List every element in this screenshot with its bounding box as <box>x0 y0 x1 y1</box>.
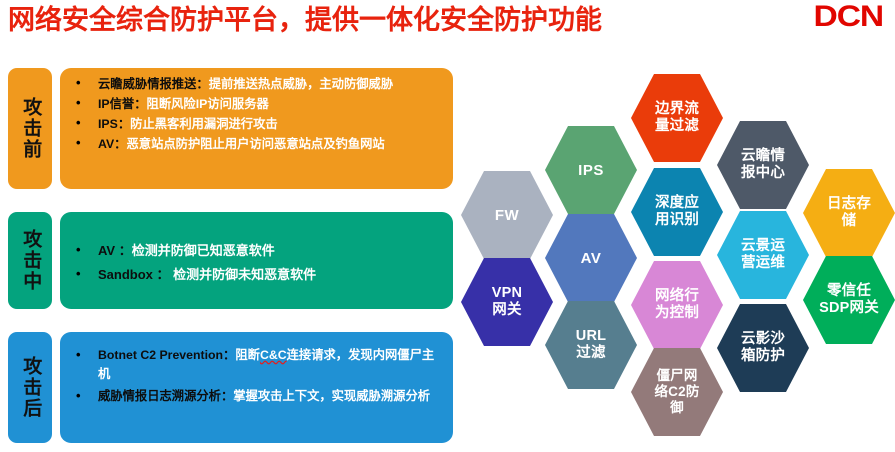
stage-tab-label: 攻击后 <box>19 356 41 419</box>
spellcheck-underline: C&C <box>260 348 287 362</box>
hex-cell-label: 云瞻情 报中心 <box>727 148 799 182</box>
hex-cell[interactable]: 日志存 储 <box>803 169 895 257</box>
hex-cell-label: URL 过滤 <box>562 328 620 362</box>
bullet-item: Sandbox ： 检测并防御未知恶意软件 <box>68 264 443 285</box>
bullet-item: AV ：检测并防御已知恶意软件 <box>68 240 443 261</box>
stage-body-post: Botnet C2 Prevention：阻断C&C连接请求，发现内网僵尸主机威… <box>60 332 453 443</box>
hex-cell[interactable]: 云影沙 箱防护 <box>717 304 809 392</box>
capability-hex-diagram: FWIPS边界流 量过滤云瞻情 报中心日志存 储AV深度应 用识别云景运 营运维… <box>455 58 895 452</box>
stage-bullet-list: Botnet C2 Prevention：阻断C&C连接请求，发现内网僵尸主机威… <box>68 346 443 406</box>
stage-tab-post: 攻击后 <box>8 332 52 443</box>
bullet-key: IP信誉： <box>98 97 147 111</box>
stage-panel-pre-attack: 攻击前云瞻威胁情报推送：提前推送热点威胁，主动防御威胁IP信誉：阻断风险IP访问… <box>8 68 455 189</box>
hex-cell-label: 云影沙 箱防护 <box>727 331 799 365</box>
hex-cell[interactable]: 零信任 SDP网关 <box>803 256 895 344</box>
bullet-item: 威胁情报日志溯源分析：掌握攻击上下文，实现威胁溯源分析 <box>68 387 443 406</box>
hex-cell[interactable]: VPN 网关 <box>461 258 553 346</box>
bullet-key: 云瞻威胁情报推送： <box>98 77 209 91</box>
hex-cell-label: AV <box>567 250 616 267</box>
hex-cell-label: 僵尸网 络C2防 御 <box>645 368 708 416</box>
stage-panel-post-attack: 攻击后Botnet C2 Prevention：阻断C&C连接请求，发现内网僵尸… <box>8 332 455 443</box>
hex-cell[interactable]: 僵尸网 络C2防 御 <box>631 348 723 436</box>
stage-body-pre: 云瞻威胁情报推送：提前推送热点威胁，主动防御威胁IP信誉：阻断风险IP访问服务器… <box>60 68 453 189</box>
stage-tab-mid: 攻击中 <box>8 212 52 309</box>
bullet-value: 恶意站点防护阻止用户访问恶意站点及钓鱼网站 <box>126 137 384 151</box>
stage-bullet-list: AV ：检测并防御已知恶意软件Sandbox ： 检测并防御未知恶意软件 <box>68 240 443 285</box>
stage-bullet-list: 云瞻威胁情报推送：提前推送热点威胁，主动防御威胁IP信誉：阻断风险IP访问服务器… <box>68 75 443 153</box>
hex-cell-label: VPN 网关 <box>478 285 536 319</box>
bullet-item: IP信誉：阻断风险IP访问服务器 <box>68 95 443 113</box>
hex-cell-label: IPS <box>564 162 618 179</box>
hex-cell[interactable]: IPS <box>545 126 637 214</box>
hex-cell[interactable]: 深度应 用识别 <box>631 168 723 256</box>
bullet-value: 阻断风险IP访问服务器 <box>147 97 269 111</box>
bullet-key: AV ： <box>98 243 132 258</box>
hex-cell[interactable]: 云瞻情 报中心 <box>717 121 809 209</box>
hex-cell[interactable]: 云景运 营运维 <box>717 211 809 299</box>
stage-tab-label: 攻击前 <box>19 97 41 160</box>
hex-cell[interactable]: FW <box>461 171 553 259</box>
bullet-value: 掌握攻击上下文，实现威胁溯源分析 <box>233 389 430 403</box>
bullet-value: 提前推送热点威胁，主动防御威胁 <box>209 77 393 91</box>
bullet-item: AV：恶意站点防护阻止用户访问恶意站点及钓鱼网站 <box>68 135 443 153</box>
stage-tab-pre: 攻击前 <box>8 68 52 189</box>
bullet-value: 检测并防御未知恶意软件 <box>170 267 317 282</box>
bullet-key: 威胁情报日志溯源分析： <box>98 389 233 403</box>
bullet-key: Sandbox ： <box>98 267 170 282</box>
hex-cell-label: FW <box>481 207 533 224</box>
bullet-item: Botnet C2 Prevention：阻断C&C连接请求，发现内网僵尸主机 <box>68 346 443 384</box>
stage-panel-during-attack: 攻击中AV ：检测并防御已知恶意软件Sandbox ： 检测并防御未知恶意软件 <box>8 212 455 309</box>
bullet-value: 检测并防御已知恶意软件 <box>132 243 275 258</box>
hex-cell-label: 零信任 SDP网关 <box>805 283 893 317</box>
hex-cell[interactable]: URL 过滤 <box>545 301 637 389</box>
bullet-item: 云瞻威胁情报推送：提前推送热点威胁，主动防御威胁 <box>68 75 443 93</box>
hex-cell-label: 边界流 量过滤 <box>641 101 713 135</box>
slide-canvas: 网络安全综合防护平台，提供一体化安全防护功能 DCN 攻击前云瞻威胁情报推送：提… <box>0 0 895 452</box>
stage-body-mid: AV ：检测并防御已知恶意软件Sandbox ： 检测并防御未知恶意软件 <box>60 212 453 309</box>
bullet-key: AV： <box>98 137 126 151</box>
hex-cell-label: 日志存 储 <box>813 196 885 230</box>
hex-cell[interactable]: AV <box>545 214 637 302</box>
hex-cell-label: 深度应 用识别 <box>641 195 713 229</box>
hex-cell[interactable]: 网络行 为控制 <box>631 261 723 349</box>
bullet-key: Botnet C2 Prevention： <box>98 348 235 362</box>
bullet-item: IPS：防止黑客利用漏洞进行攻击 <box>68 115 443 133</box>
slide-header: 网络安全综合防护平台，提供一体化安全防护功能 DCN <box>0 0 895 44</box>
hex-cell[interactable]: 边界流 量过滤 <box>631 74 723 162</box>
hex-cell-label: 云景运 营运维 <box>727 238 799 272</box>
hex-cell-label: 网络行 为控制 <box>641 288 713 322</box>
stage-tab-label: 攻击中 <box>19 229 41 292</box>
page-title: 网络安全综合防护平台，提供一体化安全防护功能 <box>8 2 602 38</box>
bullet-key: IPS： <box>98 117 130 131</box>
dcn-logo: DCN <box>814 1 883 33</box>
bullet-value: 防止黑客利用漏洞进行攻击 <box>130 117 278 131</box>
